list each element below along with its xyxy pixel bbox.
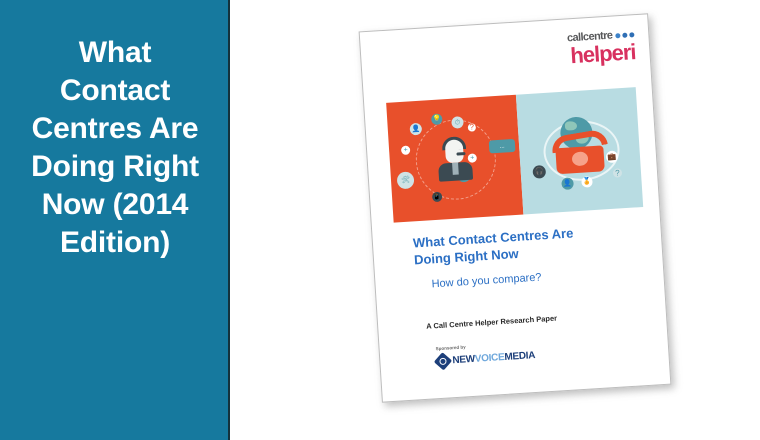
award-bubble-icon: 🏅 — [581, 176, 593, 188]
cover-kicker-line: A Call Centre Helper Research Paper — [426, 308, 636, 332]
logo-helper-wordmark: helperi — [568, 41, 637, 67]
cover-subtitle: How do you compare? — [431, 265, 622, 291]
question-bubble-icon: ? — [613, 168, 623, 178]
logo-helper-text: helper — [570, 39, 631, 68]
sponsor-word-new: NEW — [452, 353, 475, 365]
cover-illustration: 💡 ⏱ 👤 + + 📄 🛠 📱 ? ... — [386, 87, 643, 222]
sponsor-word-voice: VOICE — [474, 351, 504, 364]
agent-microphone-icon — [456, 152, 465, 156]
person-bubble-icon: 👤 — [561, 177, 574, 190]
person-bubble-icon: 👤 — [409, 123, 422, 136]
tools-bubble-icon: 🛠 — [397, 171, 415, 189]
speech-bubble-icon: ... — [489, 139, 516, 154]
logo-dot-3-icon — [629, 32, 634, 37]
callcentre-helper-logo: callcentre helperi — [567, 29, 636, 67]
sponsor-label: Sponsored by — [436, 344, 466, 351]
newvoicemedia-logo: NEWVOICEMEDIA — [436, 349, 535, 368]
research-paper-cover[interactable]: callcentre helperi 💡 ⏱ — [359, 13, 672, 402]
mobile-bubble-icon: 📱 — [432, 192, 443, 203]
sponsor-word-media: MEDIA — [504, 350, 535, 363]
newvoicemedia-mark-icon — [434, 352, 452, 370]
logo-dot-2-icon — [622, 33, 627, 38]
newvoicemedia-wordmark: NEWVOICEMEDIA — [452, 351, 535, 366]
slide-canvas: What Contact Centres Are Doing Right Now… — [0, 0, 760, 440]
agent-tie-shape — [452, 162, 459, 174]
document-preview-area: callcentre helperi 💡 ⏱ — [232, 0, 760, 440]
headset-bubble-icon: 🎧 — [532, 165, 546, 179]
telephone-globe-illustration: 🎧 👤 🏅 💼 ? — [516, 87, 643, 214]
logo-dot-1-icon — [615, 33, 620, 38]
contact-centre-agent-illustration: 💡 ⏱ 👤 + + 📄 🛠 📱 ? ... — [386, 95, 523, 223]
document-page: callcentre helperi 💡 ⏱ — [359, 13, 672, 402]
plus-bubble-icon: + — [401, 145, 411, 155]
title-sidebar: What Contact Centres Are Doing Right Now… — [0, 0, 230, 440]
slide-title: What Contact Centres Are Doing Right Now… — [6, 34, 224, 262]
logo-dots-icon — [615, 32, 634, 38]
logo-helper-suffix: i — [630, 39, 637, 64]
cover-title: What Contact Centres Are Doing Right Now — [412, 222, 614, 268]
